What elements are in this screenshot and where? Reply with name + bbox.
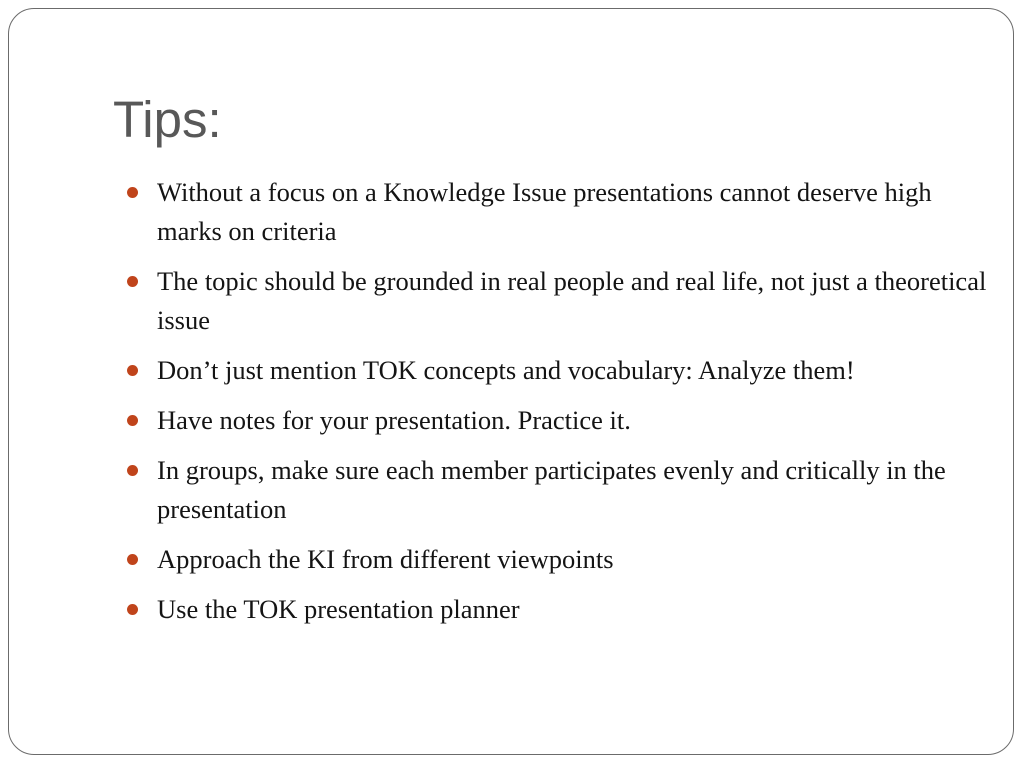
filled-circle-bullet-icon	[127, 415, 138, 426]
list-item: In groups, make sure each member partici…	[121, 451, 991, 529]
filled-circle-bullet-icon	[127, 365, 138, 376]
filled-circle-bullet-icon	[127, 187, 138, 198]
list-item: Have notes for your presentation. Practi…	[121, 401, 991, 440]
list-item-label: Without a focus on a Knowledge Issue pre…	[157, 173, 991, 251]
list-item-label: Approach the KI from different viewpoint…	[157, 540, 991, 579]
list-item-label: The topic should be grounded in real peo…	[157, 262, 991, 340]
list-item-label: Use the TOK presentation planner	[157, 590, 991, 629]
list-item: Use the TOK presentation planner	[121, 590, 991, 629]
list-item-label: Have notes for your presentation. Practi…	[157, 401, 991, 440]
page-title: Tips:	[113, 91, 222, 149]
list-item-label: Don’t just mention TOK concepts and voca…	[157, 351, 991, 390]
list-item: The topic should be grounded in real peo…	[121, 262, 991, 340]
slide-frame: Tips: Without a focus on a Knowledge Iss…	[8, 8, 1014, 755]
list-item: Don’t just mention TOK concepts and voca…	[121, 351, 991, 390]
filled-circle-bullet-icon	[127, 604, 138, 615]
filled-circle-bullet-icon	[127, 465, 138, 476]
list-item: Without a focus on a Knowledge Issue pre…	[121, 173, 991, 251]
list-item: Approach the KI from different viewpoint…	[121, 540, 991, 579]
filled-circle-bullet-icon	[127, 276, 138, 287]
tips-bullet-list: Without a focus on a Knowledge Issue pre…	[121, 173, 991, 629]
list-item-label: In groups, make sure each member partici…	[157, 451, 991, 529]
filled-circle-bullet-icon	[127, 554, 138, 565]
